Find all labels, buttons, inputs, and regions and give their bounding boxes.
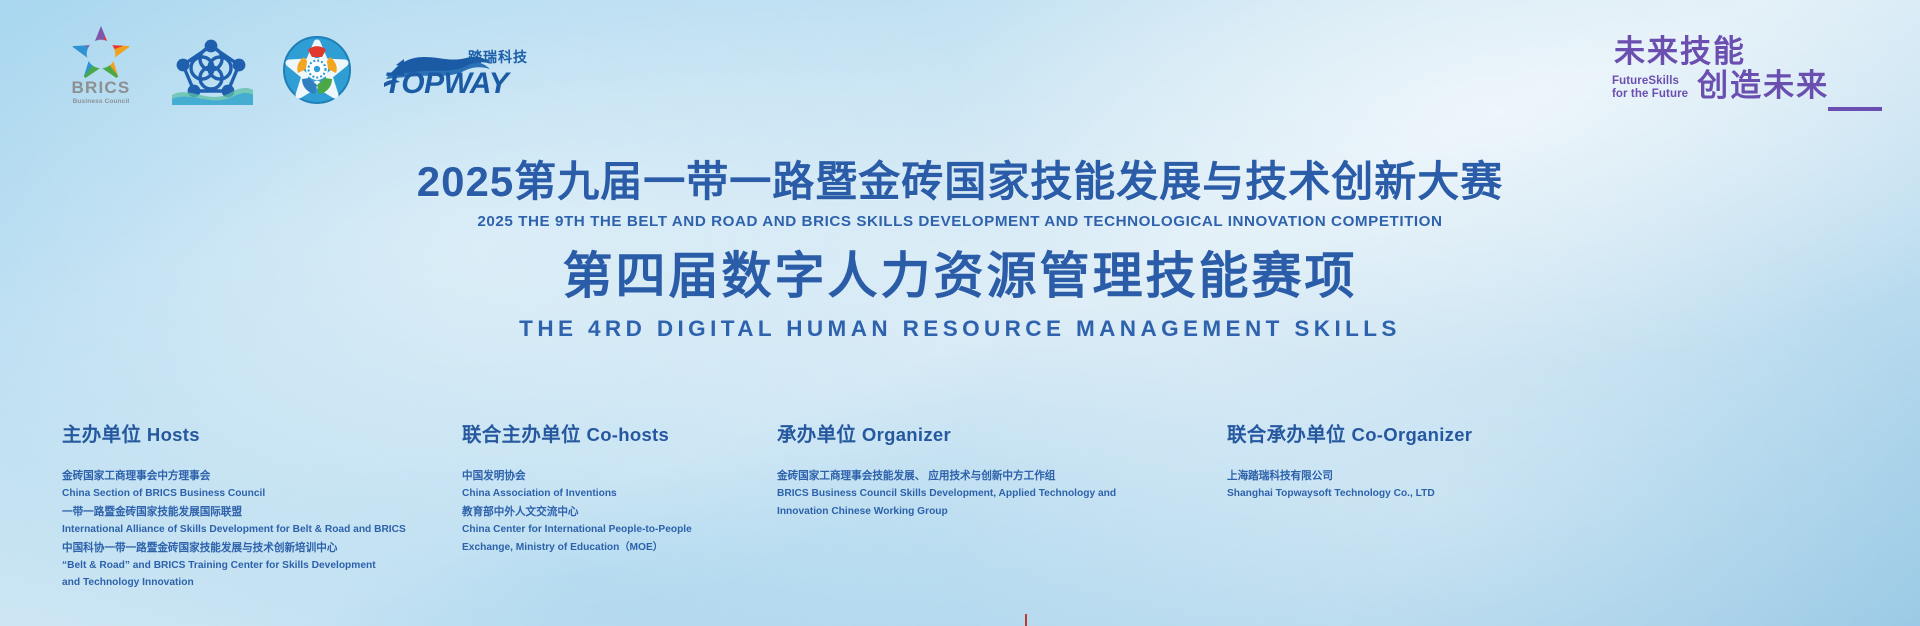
credit-column-organizer: 承办单位 Organizer 金砖国家工商理事会技能发展、 应用技术与创新中方工… — [777, 418, 1227, 592]
badge-english-line-1: FutureSkills — [1612, 75, 1688, 88]
credit-line: 教育部中外人文交流中心 — [462, 503, 777, 521]
brics-subtitle: Business Council — [73, 98, 130, 105]
credit-heading-en: Co-hosts — [587, 424, 670, 445]
credit-column-cohosts: 联合主办单位 Co-hosts 中国发明协会 China Association… — [462, 418, 777, 592]
star-circle-icon — [282, 35, 352, 105]
credit-heading-cn: 承办单位 — [777, 424, 856, 446]
credit-line: China Association of Inventions — [462, 485, 777, 503]
credit-line: China Section of BRICS Business Council — [62, 485, 462, 503]
event-banner: BRICS Business Council — [0, 0, 1920, 626]
credit-heading: 承办单位 Organizer — [777, 418, 1227, 447]
competition-title-english: 2025 THE 9TH THE BELT AND ROAD AND BRICS… — [0, 213, 1920, 230]
topway-wordmark: TOPWAY — [384, 67, 508, 101]
credit-line: “Belt & Road” and BRICS Training Center … — [62, 557, 462, 575]
badge-top-rule — [1612, 28, 1882, 32]
credit-line: 金砖国家工商理事会中方理事会 — [62, 467, 462, 485]
event-title-chinese: 第四届数字人力资源管理技能赛项 — [0, 248, 1920, 304]
credit-line: 中国科协一带一路暨金砖国家技能发展与技术创新培训中心 — [62, 539, 462, 557]
credit-line: 金砖国家工商理事会技能发展、 应用技术与创新中方工作组 — [777, 467, 1227, 485]
credit-heading-cn: 联合主办单位 — [462, 424, 581, 446]
credit-heading: 主办单位 Hosts — [62, 418, 462, 447]
topway-logo: 踏瑞科技 TOPWAY — [380, 39, 528, 105]
credit-body: 上海踏瑞科技有限公司 Shanghai Topwaysoft Technolog… — [1227, 467, 1587, 503]
credit-line: Shanghai Topwaysoft Technology Co., LTD — [1227, 485, 1587, 503]
credit-heading-cn: 主办单位 — [62, 424, 141, 446]
credits-row: 主办单位 Hosts 金砖国家工商理事会中方理事会 China Section … — [0, 418, 1920, 592]
brics-star-icon — [78, 32, 124, 76]
skills-development-star-logo — [282, 35, 352, 105]
credit-heading: 联合承办单位 Co-Organizer — [1227, 418, 1587, 447]
logo-strip: BRICS Business Council — [62, 32, 528, 105]
credit-line: 上海踏瑞科技有限公司 — [1227, 467, 1587, 485]
badge-english-line-2: for the Future — [1612, 88, 1688, 101]
credit-line: and Technology Innovation — [62, 574, 462, 592]
credit-heading-en: Hosts — [147, 424, 200, 445]
credit-line: Innovation Chinese Working Group — [777, 503, 1227, 521]
credit-line: China Center for International People-to… — [462, 521, 777, 539]
title-block: 2025第九届一带一路暨金砖国家技能发展与技术创新大赛 2025 THE 9TH… — [0, 160, 1920, 342]
credit-heading-en: Co-Organizer — [1352, 424, 1473, 445]
badge-english-tagline: FutureSkills for the Future — [1612, 75, 1688, 101]
credit-heading-cn: 联合承办单位 — [1227, 424, 1346, 446]
credit-body: 中国发明协会 China Association of Inventions 教… — [462, 467, 777, 556]
bottom-marker — [1025, 614, 1027, 626]
credit-column-coorganizer: 联合承办单位 Co-Organizer 上海踏瑞科技有限公司 Shanghai … — [1227, 418, 1587, 592]
badge-bottom-rule — [1828, 107, 1882, 111]
credit-body: 金砖国家工商理事会中方理事会 China Section of BRICS Bu… — [62, 467, 462, 592]
credit-heading-en: Organizer — [862, 424, 951, 445]
future-skills-badge: 未来技能 FutureSkills for the Future 创造未来 — [1612, 28, 1882, 111]
credit-line: 中国发明协会 — [462, 467, 777, 485]
credit-line: Exchange, Ministry of Education（MOE） — [462, 539, 777, 557]
credit-line: BRICS Business Council Skills Developmen… — [777, 485, 1227, 503]
badge-line-2: 创造未来 — [1697, 70, 1829, 102]
badge-line-1: 未来技能 — [1614, 36, 1882, 69]
alliance-rings-icon — [168, 35, 254, 105]
brics-wordmark: BRICS — [72, 79, 131, 96]
credit-column-hosts: 主办单位 Hosts 金砖国家工商理事会中方理事会 China Section … — [62, 418, 462, 592]
competition-title-chinese: 2025第九届一带一路暨金砖国家技能发展与技术创新大赛 — [0, 160, 1920, 205]
credit-heading: 联合主办单位 Co-hosts — [462, 418, 777, 447]
credit-line: International Alliance of Skills Develop… — [62, 521, 462, 539]
credit-body: 金砖国家工商理事会技能发展、 应用技术与创新中方工作组 BRICS Busine… — [777, 467, 1227, 520]
event-title-english: THE 4RD DIGITAL HUMAN RESOURCE MANAGEMEN… — [0, 316, 1920, 342]
brics-business-council-logo: BRICS Business Council — [62, 32, 140, 105]
topway-chinese-name: 踏瑞科技 — [468, 47, 528, 67]
credit-line: 一带一路暨金砖国家技能发展国际联盟 — [62, 503, 462, 521]
belt-and-road-brics-skills-alliance-logo — [168, 35, 254, 105]
